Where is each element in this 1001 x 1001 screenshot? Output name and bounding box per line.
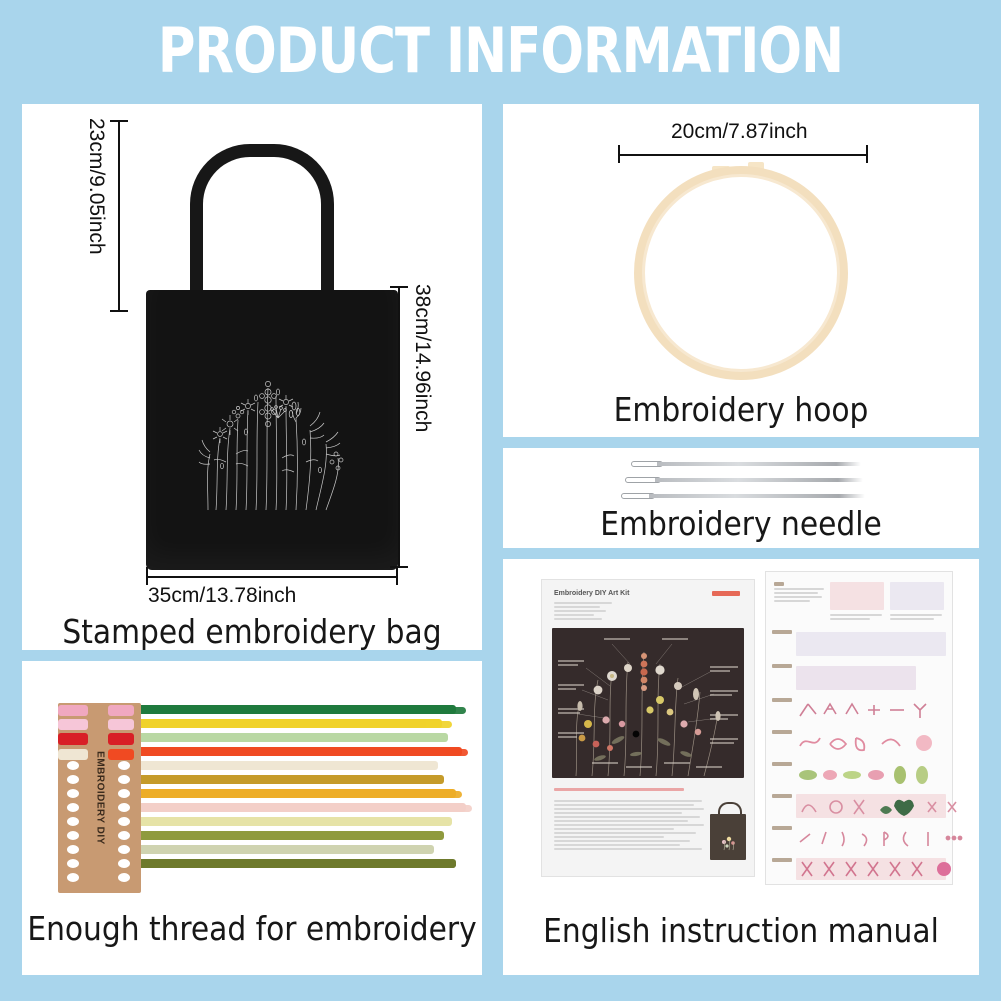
panel-instruction-manual: Embroidery DIY Art Kit [503, 559, 979, 975]
needle-shaft-2 [655, 478, 863, 482]
stitch-row [772, 794, 946, 820]
manual-brand-logo [712, 591, 740, 596]
caption-instruction-manual: English instruction manual [503, 911, 979, 950]
card-hole [118, 789, 130, 798]
page-title: PRODUCT INFORMATION [40, 20, 961, 82]
card-hole [118, 831, 130, 840]
tote-bag-illustration [128, 114, 396, 594]
dimension-cap-left [146, 567, 148, 585]
stamped-floral-pattern [186, 362, 358, 512]
bag-body [146, 290, 398, 570]
dimension-line-body-height [398, 286, 400, 568]
card-hole [118, 845, 130, 854]
dimension-cap-bottom [110, 310, 128, 312]
card-hole [67, 873, 79, 882]
dimension-label-hoop-diameter: 20cm/7.87inch [671, 120, 808, 144]
thread-tail-6 [430, 861, 456, 868]
thread-skein-1 [126, 705, 456, 714]
stitch-row-label [772, 630, 792, 634]
thread-card-label: EMBROIDERY DIY [94, 751, 105, 845]
stitch-row [772, 762, 946, 788]
stitch-figures [796, 826, 970, 852]
stitch-row [772, 858, 946, 882]
dimension-cap-bottom-2 [390, 566, 408, 568]
card-hole [67, 775, 79, 784]
stitch-guide-intro-2 [830, 614, 884, 622]
dimension-line-width [146, 576, 398, 578]
card-hole [67, 789, 79, 798]
thread-skein-11 [126, 845, 434, 854]
thread-skein-7 [126, 789, 456, 798]
thread-skein-12 [126, 859, 456, 868]
card-skein-2 [58, 719, 88, 730]
card-hole [118, 873, 130, 882]
card-hole [118, 775, 130, 784]
stitch-row [772, 826, 946, 852]
thread-skein-10 [126, 831, 444, 840]
caption-thread: Enough thread for embroidery [22, 909, 482, 948]
bag-handle [190, 144, 334, 309]
panel-thread: EMBROIDERY DIY [22, 661, 482, 975]
dimension-label-handle-height: 23cm/9.05inch [84, 118, 108, 255]
dimension-cap-right [396, 567, 398, 585]
manual-mini-tote [710, 814, 746, 860]
caption-embroidery-needle: Embroidery needle [503, 504, 979, 543]
stitch-guide-intro-1 [774, 582, 826, 604]
thread-skein-6 [126, 775, 444, 784]
card-hole [118, 761, 130, 770]
dimension-cap-hoop-left [618, 145, 620, 163]
card-skein-7 [108, 733, 134, 745]
thread-skein-2 [126, 719, 442, 728]
card-skein-5 [108, 705, 134, 716]
thread-tail-4 [438, 791, 462, 798]
thread-tail-1 [442, 707, 466, 714]
product-information-infographic: PRODUCT INFORMATION 23cm/9.05inch [0, 0, 1001, 1001]
manual-subtitle-lines [554, 602, 614, 622]
manual-sheet-front: Embroidery DIY Art Kit [541, 579, 755, 877]
needle-2 [625, 478, 863, 482]
stitch-guide-intro-3 [890, 614, 944, 622]
dimension-cap-hoop-right [866, 145, 868, 163]
card-skein-6 [108, 719, 134, 730]
stitch-guide-photo-1 [830, 582, 884, 610]
dimension-cap-top-2 [390, 286, 408, 288]
card-hole [67, 831, 79, 840]
thread-tail-2 [426, 721, 452, 728]
dimension-label-width: 35cm/13.78inch [148, 584, 296, 608]
card-skein-8 [108, 749, 134, 760]
thread-skein-9 [126, 817, 452, 826]
stitch-figures [796, 730, 970, 756]
card-hole [67, 817, 79, 826]
card-skein-4 [58, 749, 88, 760]
thread-skein-8 [126, 803, 466, 812]
stitch-figures [796, 698, 970, 724]
manual-body-text [554, 800, 704, 852]
card-hole [67, 803, 79, 812]
card-hole [67, 761, 79, 770]
card-skein-1 [58, 705, 88, 716]
card-skein-3 [58, 733, 88, 745]
stitch-figures [796, 762, 970, 788]
needle-3 [621, 494, 865, 498]
floral-diagram-art [552, 628, 744, 778]
dimension-line-hoop-diameter [618, 154, 868, 156]
stitch-figures [796, 794, 970, 820]
dimension-label-body-height: 38cm/14.96inch [410, 284, 434, 432]
manual-floral-diagram [552, 628, 744, 778]
card-hole [118, 803, 130, 812]
card-hole [67, 859, 79, 868]
manual-sheet-title: Embroidery DIY Art Kit [554, 590, 629, 597]
card-hole [118, 817, 130, 826]
thread-skein-4 [126, 747, 462, 756]
needle-1 [631, 462, 861, 466]
dimension-line-handle-height [118, 120, 120, 312]
stitch-guide-photo-2 [890, 582, 944, 610]
thread-tail-5 [450, 805, 472, 812]
card-hole [67, 845, 79, 854]
manual-section-heading [554, 788, 694, 793]
panel-embroidery-hoop: 20cm/7.87inch Embroidery hoop [503, 104, 979, 437]
stitch-figures [796, 858, 970, 882]
stitch-row [772, 630, 946, 658]
panel-stamped-embroidery-bag: 23cm/9.05inch [22, 104, 482, 650]
thread-tail-3 [446, 749, 468, 756]
stitch-row [772, 730, 946, 756]
stitch-row [772, 698, 946, 724]
thread-skein-3 [126, 733, 448, 742]
needle-shaft-1 [657, 462, 861, 466]
mini-tote-art [710, 814, 746, 860]
caption-stamped-embroidery-bag: Stamped embroidery bag [22, 612, 482, 650]
card-hole [118, 859, 130, 868]
stitch-row [772, 664, 946, 692]
caption-embroidery-hoop: Embroidery hoop [503, 390, 979, 429]
thread-skein-5 [126, 761, 438, 770]
dimension-cap-top [110, 120, 128, 122]
hoop-inner-ring [642, 174, 840, 372]
panel-embroidery-needle: Embroidery needle [503, 448, 979, 548]
needle-shaft-3 [649, 494, 865, 498]
manual-sheet-stitch-guide [765, 571, 953, 885]
thread-organizer-card: EMBROIDERY DIY [58, 703, 141, 893]
